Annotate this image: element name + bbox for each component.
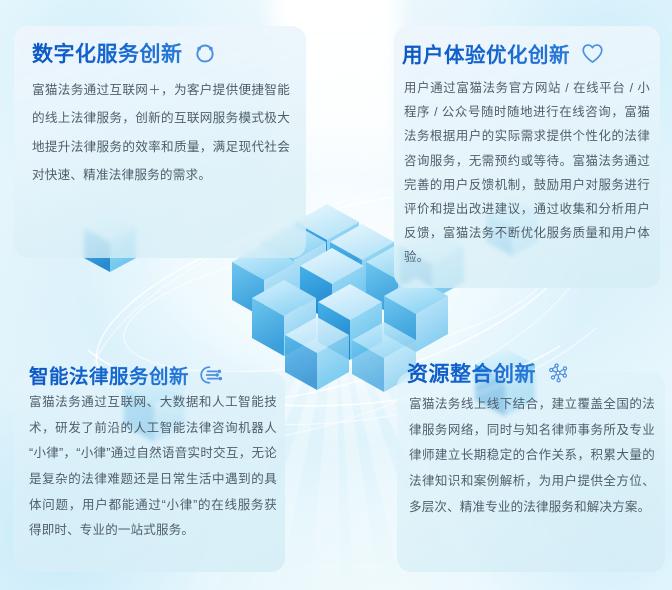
- card-title-digital-service-innovation: 数字化服务创新: [32, 38, 218, 68]
- card-title-text: 数字化服务创新: [32, 38, 183, 68]
- promo-banner: 数字化服务创新 富猫法务通过互联网＋，为客户提供便捷智能的线上法律服务，创新的互…: [0, 0, 672, 590]
- card-smart-legal-service-innovation: 智能法律服务创新 富猫法务通过互联网、大数据和人工智能技术，研发了前沿的人工智能…: [13, 372, 285, 572]
- card-resource-integration-innovation: 资源整合创新: [397, 372, 665, 572]
- card-digital-service-innovation: 数字化服务创新 富猫法务通过互联网＋，为客户提供便捷智能的线上法律服务，创新的互…: [14, 26, 306, 258]
- card-title-user-experience-optimization-innovation: 用户体验优化创新: [402, 38, 605, 68]
- card-user-experience-optimization-innovation: 用户体验优化创新 用户通过富猫法务官方网站 / 在线平台 / 小程序 / 公众号…: [394, 26, 660, 288]
- card-body-user-experience-optimization-innovation: 用户通过富猫法务官方网站 / 在线平台 / 小程序 / 公众号随时随地进行在线咨…: [404, 76, 650, 270]
- ai-chip-icon: [198, 362, 224, 388]
- card-title-text: 资源整合创新: [407, 358, 536, 388]
- network-nodes-icon: [545, 360, 571, 386]
- card-body-digital-service-innovation: 富猫法务通过互联网＋，为客户提供便捷智能的线上法律服务，创新的互联网服务模式极大…: [32, 76, 290, 189]
- card-title-text: 用户体验优化创新: [402, 38, 570, 68]
- card-title-resource-integration-innovation: 资源整合创新: [407, 358, 571, 388]
- sync-circle-icon: [192, 40, 218, 66]
- card-title-smart-legal-service-innovation: 智能法律服务创新: [29, 360, 224, 389]
- card-title-text: 智能法律服务创新: [29, 360, 189, 389]
- heart-icon: [579, 40, 605, 66]
- card-body-resource-integration-innovation: 富猫法务线上线下结合，建立覆盖全国的法律服务网络，同时与知名律师事务所及专业律师…: [409, 392, 655, 520]
- card-body-smart-legal-service-innovation: 富猫法务通过互联网、大数据和人工智能技术，研发了前沿的人工智能法律咨询机器人“小…: [29, 390, 277, 544]
